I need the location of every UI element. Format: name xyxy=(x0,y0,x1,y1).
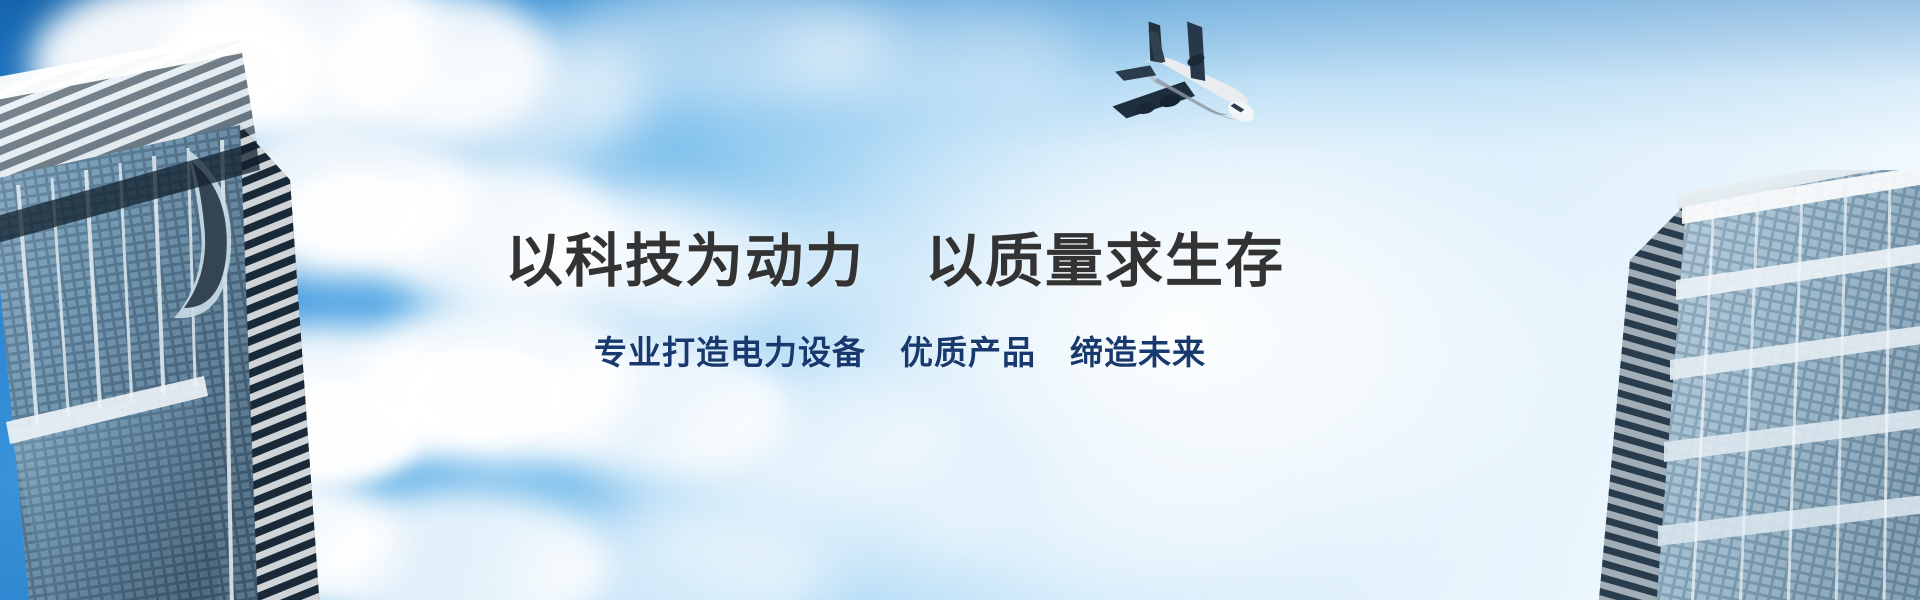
banner-copy: 以科技为动力 以质量求生存 专业打造电力设备 优质产品 缔造未来 xyxy=(0,0,1920,600)
banner-headline: 以科技为动力 以质量求生存 xyxy=(505,232,1285,290)
hero-banner: 以科技为动力 以质量求生存 专业打造电力设备 优质产品 缔造未来 xyxy=(0,0,1920,600)
banner-subheadline: 专业打造电力设备 优质产品 缔造未来 xyxy=(594,336,1206,369)
